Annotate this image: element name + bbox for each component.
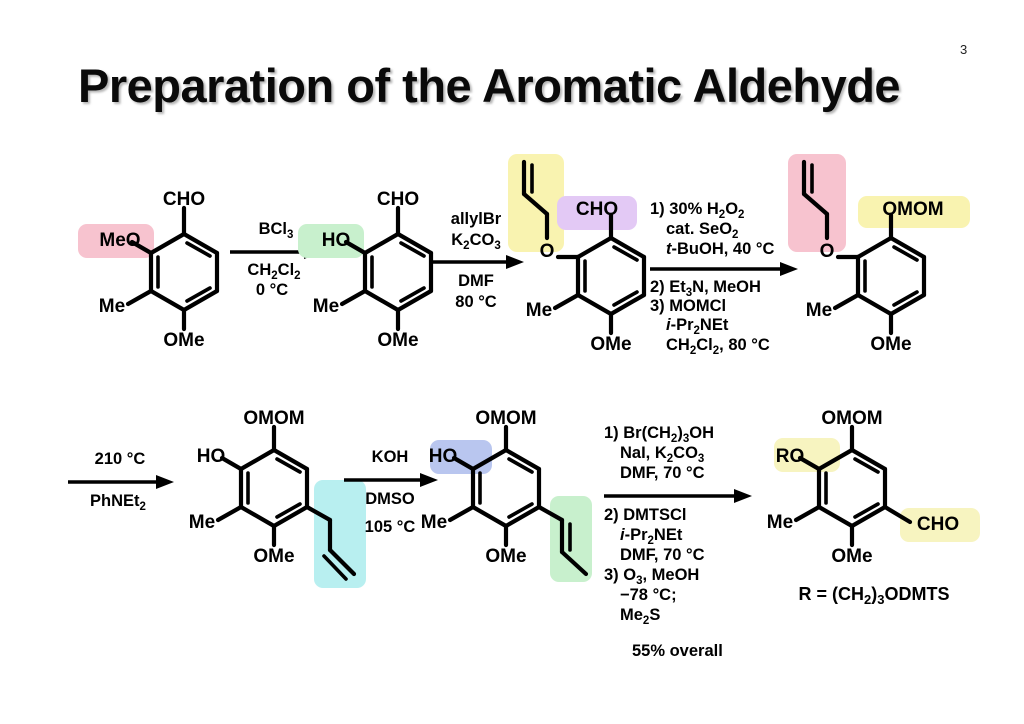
- arrow-5: KOH DMSO 105 °C: [344, 442, 440, 552]
- label-me: Me: [189, 512, 215, 533]
- benzene-ring: [819, 450, 885, 526]
- arrow-3: 1) 30% H2O2 cat. SeO2 t-BuOH, 40 °C 2) E…: [650, 200, 800, 340]
- slide-canvas: 3 Preparation of the Aromatic Aldehyde: [0, 0, 1024, 724]
- benzene-ring: [578, 238, 644, 314]
- label-ether-o: O: [820, 241, 835, 262]
- label-cho: CHO: [576, 199, 618, 220]
- step-3-line-2: −78 °C;: [620, 586, 677, 604]
- label-cho: CHO: [163, 189, 205, 210]
- step-3-line-2: i-Pr2NEt: [666, 316, 729, 337]
- step-2-line-2: i-Pr2NEt: [620, 526, 683, 547]
- label-omom: OMOM: [475, 408, 536, 429]
- temperature-above: 210 °C: [95, 450, 146, 468]
- overall-yield: 55% overall: [632, 642, 723, 660]
- label-me: Me: [526, 300, 552, 321]
- solvent-line: DMF: [458, 272, 494, 290]
- r-group-definition: R = (CH2)3ODMTS: [799, 584, 950, 607]
- step-1-line-1: 1) Br(CH2)3OH: [604, 424, 714, 445]
- solvent-line: DMSO: [365, 490, 415, 508]
- benzene-ring: [241, 450, 307, 526]
- step-1-line-1: 1) 30% H2O2: [650, 200, 744, 221]
- bond-to-me: [796, 507, 819, 520]
- arrow-head: [734, 489, 752, 503]
- label-me: Me: [767, 512, 793, 533]
- label-omom: OMOM: [243, 408, 304, 429]
- arrow-4: 210 °C PhNEt2: [68, 444, 178, 524]
- temperature-line: 80 °C: [455, 293, 497, 311]
- structure-6: OMOM HO Me OMe: [428, 402, 628, 602]
- solvent-below: PhNEt2: [90, 492, 146, 513]
- label-me: Me: [421, 512, 447, 533]
- benzene-ring: [365, 234, 431, 310]
- label-ome: OMe: [377, 330, 418, 351]
- step-1-line-3: t-BuOH, 40 °C: [666, 240, 774, 258]
- label-ome: OMe: [590, 334, 631, 355]
- step-1-line-2: cat. SeO2: [666, 220, 738, 241]
- label-me: Me: [806, 300, 832, 321]
- arrow-6: 1) Br(CH2)3OH NaI, K2CO3 DMF, 70 °C 2) D…: [604, 424, 754, 644]
- reagent-line-1: allylBr: [451, 210, 502, 228]
- label-meo: MeO: [99, 230, 140, 251]
- label-me: Me: [313, 296, 339, 317]
- temperature-line: 105 °C: [365, 518, 416, 536]
- label-cho: CHO: [917, 514, 959, 535]
- arrow-head: [156, 475, 174, 489]
- label-ome: OMe: [163, 330, 204, 351]
- label-ome: OMe: [831, 546, 872, 567]
- benzene-ring: [151, 234, 217, 310]
- label-ome: OMe: [253, 546, 294, 567]
- label-ho: HO: [322, 230, 351, 251]
- reagent-above: KOH: [372, 448, 409, 466]
- step-1-line-3: DMF, 70 °C: [620, 464, 705, 482]
- label-ro: RO: [776, 446, 805, 467]
- label-ome: OMe: [870, 334, 911, 355]
- label-omom: OMOM: [882, 199, 943, 220]
- label-ho: HO: [197, 446, 226, 467]
- label-ome: OMe: [485, 546, 526, 567]
- label-ether-o: O: [540, 241, 555, 262]
- step-3-line-3: Me2S: [620, 606, 660, 627]
- page-number: 3: [960, 42, 967, 57]
- step-1-line-2: NaI, K2CO3: [620, 444, 704, 465]
- label-ho: HO: [429, 446, 458, 467]
- step-2-line-1: 2) DMTSCl: [604, 506, 687, 524]
- step-2-line-3: DMF, 70 °C: [620, 546, 705, 564]
- structure-4: O OMOM Me OMe: [780, 152, 990, 347]
- reagent-line-2: K2CO3: [451, 231, 500, 252]
- temperature-line: 0 °C: [256, 281, 288, 299]
- label-cho: CHO: [377, 189, 419, 210]
- step-2-line: 2) Et3N, MeOH: [650, 278, 761, 299]
- step-3-line-1: 3) MOMCl: [650, 297, 726, 315]
- benzene-ring: [473, 450, 539, 526]
- page-title: Preparation of the Aromatic Aldehyde: [78, 58, 958, 113]
- bond-to-me: [218, 507, 241, 520]
- benzene-ring: [858, 238, 924, 314]
- bond-to-me: [128, 291, 151, 304]
- label-me: Me: [99, 296, 125, 317]
- label-omom: OMOM: [821, 408, 882, 429]
- step-3-line-1: 3) O3, MeOH: [604, 566, 699, 587]
- step-3-line-3: CH2Cl2, 80 °C: [666, 336, 770, 357]
- structure-7: OMOM RO Me OMe CHO R = (CH2)3ODMTS: [770, 402, 990, 617]
